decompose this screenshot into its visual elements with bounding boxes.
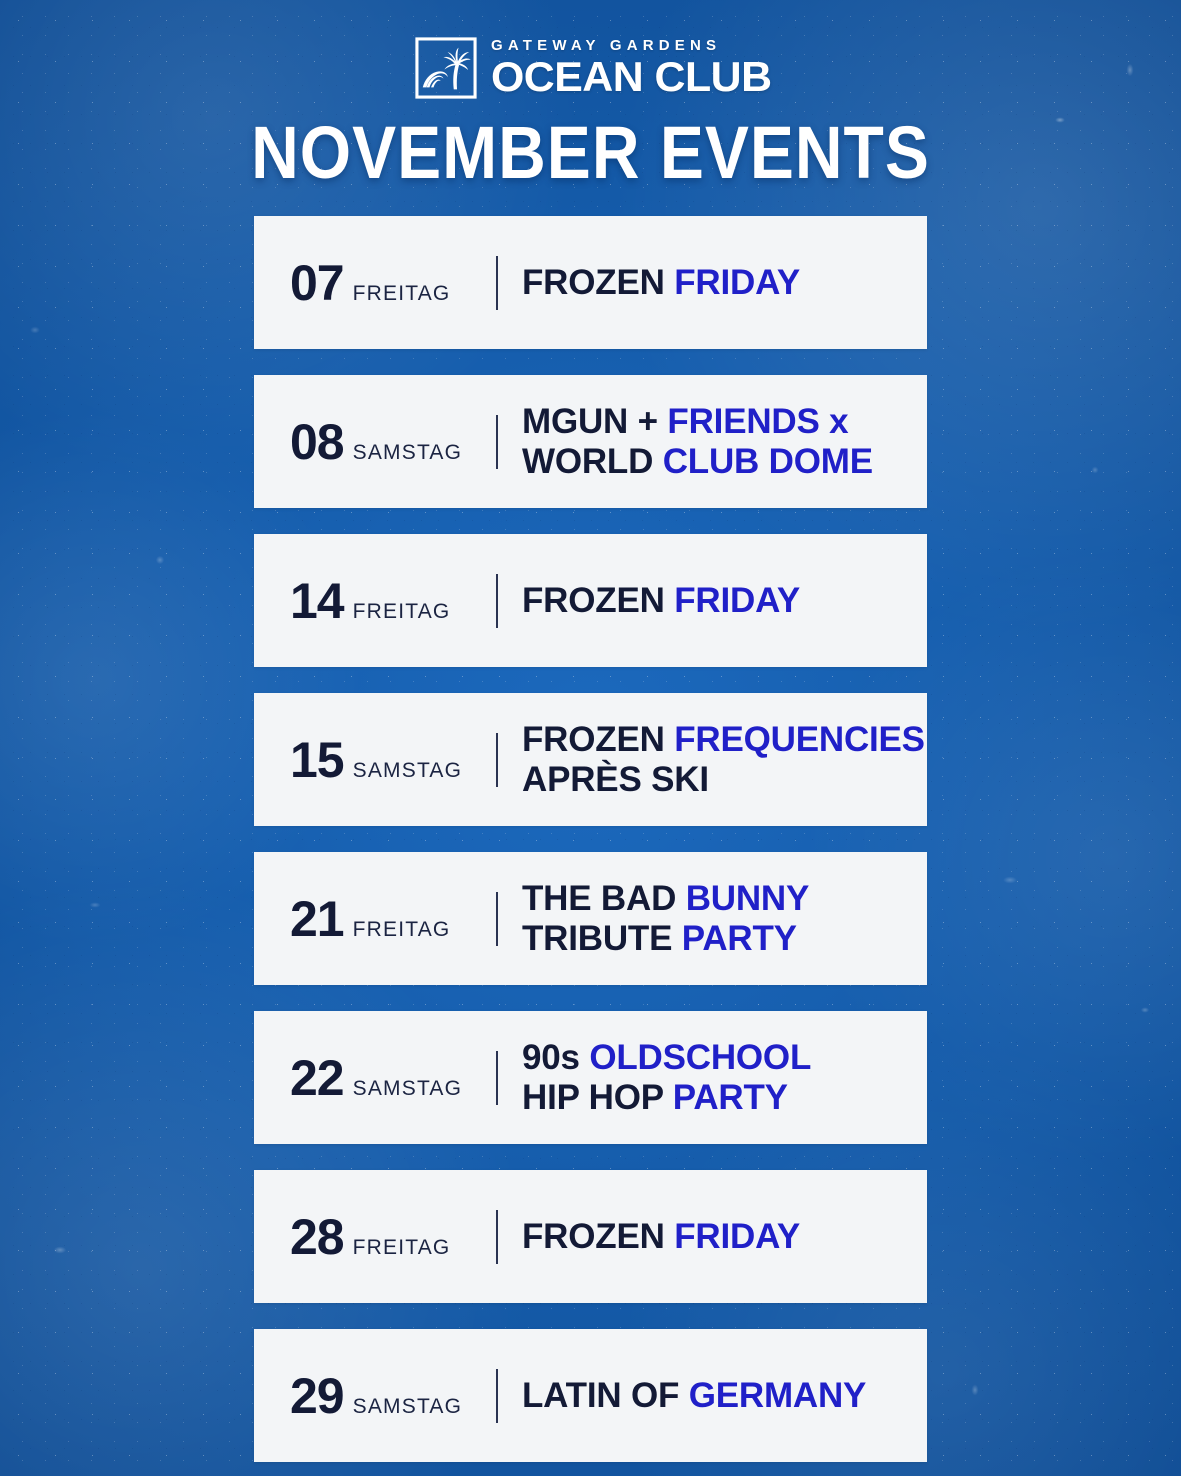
events-list: 07FREITAGFROZEN FRIDAY08SAMSTAGMGUN + FR…: [254, 190, 927, 1462]
event-card[interactable]: 21FREITAGTHE BAD BUNNYTRIBUTE PARTY: [254, 852, 927, 985]
event-title-line: WORLD CLUB DOME: [522, 442, 927, 481]
brand-logo: GATEWAY GARDENS OCEAN CLUB: [0, 36, 1181, 100]
event-card[interactable]: 22SAMSTAG90s OLDSCHOOLHIP HOP PARTY: [254, 1011, 927, 1144]
event-divider: [496, 256, 498, 310]
page-title: NOVEMBER EVENTS: [0, 109, 1181, 194]
event-title-accent-text: PARTY: [673, 1078, 788, 1117]
event-weekday: SAMSTAG: [353, 760, 463, 781]
event-divider: [496, 1369, 498, 1423]
event-title-accent-text: OLDSCHOOL: [589, 1038, 811, 1077]
event-divider: [496, 733, 498, 787]
event-date-block: 28FREITAG: [290, 1212, 496, 1262]
event-title-accent-text: PARTY: [682, 919, 797, 958]
event-day-number: 28: [290, 1212, 344, 1262]
event-title-text: FROZEN: [522, 263, 674, 302]
event-title-text: FROZEN: [522, 581, 674, 620]
event-title: FROZEN FREQUENCIESAPRÈS SKI: [522, 720, 927, 798]
event-date-block: 29SAMSTAG: [290, 1371, 496, 1421]
event-title-line: TRIBUTE PARTY: [522, 919, 927, 958]
event-title-accent-text: GERMANY: [689, 1376, 867, 1415]
event-title: THE BAD BUNNYTRIBUTE PARTY: [522, 879, 927, 957]
event-title-line: FROZEN FRIDAY: [522, 1217, 927, 1256]
brand-wordmark: GATEWAY GARDENS OCEAN CLUB: [491, 38, 766, 98]
event-divider: [496, 1210, 498, 1264]
event-title-line: 90s OLDSCHOOL: [522, 1038, 927, 1077]
event-card[interactable]: 29SAMSTAGLATIN OF GERMANY: [254, 1329, 927, 1462]
event-title-line: FROZEN FRIDAY: [522, 581, 927, 620]
event-title-line: HIP HOP PARTY: [522, 1078, 927, 1117]
event-title-text: LATIN OF: [522, 1376, 689, 1415]
event-title: 90s OLDSCHOOLHIP HOP PARTY: [522, 1038, 927, 1116]
event-day-number: 22: [290, 1053, 344, 1103]
brand-kicker: GATEWAY GARDENS: [491, 38, 721, 53]
event-title-text: WORLD: [522, 442, 663, 481]
event-title-accent-text: FRIDAY: [674, 263, 800, 302]
event-weekday: SAMSTAG: [353, 442, 463, 463]
event-divider: [496, 574, 498, 628]
palm-tree-wave-icon: [415, 37, 477, 99]
event-title: FROZEN FRIDAY: [522, 1217, 927, 1256]
poster-header: GATEWAY GARDENS OCEAN CLUB NOVEMBER EVEN…: [0, 0, 1181, 190]
event-title-line: MGUN + FRIENDS x: [522, 402, 927, 441]
event-title-text: TRIBUTE: [522, 919, 682, 958]
event-title: FROZEN FRIDAY: [522, 263, 927, 302]
event-title-text: FROZEN: [522, 1217, 674, 1256]
event-title-line: APRÈS SKI: [522, 760, 927, 799]
event-title-line: FROZEN FRIDAY: [522, 263, 927, 302]
event-poster: GATEWAY GARDENS OCEAN CLUB NOVEMBER EVEN…: [0, 0, 1181, 1476]
event-title-text: MGUN +: [522, 402, 667, 441]
event-title: MGUN + FRIENDS xWORLD CLUB DOME: [522, 402, 927, 480]
event-date-block: 22SAMSTAG: [290, 1053, 496, 1103]
event-date-block: 08SAMSTAG: [290, 417, 496, 467]
event-day-number: 08: [290, 417, 344, 467]
event-card[interactable]: 15SAMSTAGFROZEN FREQUENCIESAPRÈS SKI: [254, 693, 927, 826]
event-day-number: 15: [290, 735, 344, 785]
event-day-number: 29: [290, 1371, 344, 1421]
event-card[interactable]: 07FREITAGFROZEN FRIDAY: [254, 216, 927, 349]
brand-name: OCEAN CLUB: [491, 56, 772, 98]
event-title-accent-text: FRIDAY: [674, 1217, 800, 1256]
event-title-line: LATIN OF GERMANY: [522, 1376, 927, 1415]
event-title-accent-text: FRIENDS x: [667, 402, 848, 441]
event-day-number: 21: [290, 894, 344, 944]
event-title-text: FROZEN: [522, 720, 674, 759]
event-title-text: APRÈS SKI: [522, 760, 709, 799]
event-title: LATIN OF GERMANY: [522, 1376, 927, 1415]
event-weekday: SAMSTAG: [353, 1078, 463, 1099]
event-weekday: SAMSTAG: [353, 1396, 463, 1417]
event-title-line: THE BAD BUNNY: [522, 879, 927, 918]
event-title-text: THE BAD: [522, 879, 686, 918]
event-title-accent-text: FREQUENCIES: [674, 720, 925, 759]
event-date-block: 15SAMSTAG: [290, 735, 496, 785]
event-date-block: 07FREITAG: [290, 258, 496, 308]
event-day-number: 14: [290, 576, 344, 626]
event-divider: [496, 892, 498, 946]
event-title-accent-text: BUNNY: [686, 879, 809, 918]
event-date-block: 14FREITAG: [290, 576, 496, 626]
event-weekday: FREITAG: [353, 1237, 451, 1258]
event-title-text: HIP HOP: [522, 1078, 673, 1117]
event-divider: [496, 1051, 498, 1105]
event-weekday: FREITAG: [353, 601, 451, 622]
event-title-accent-text: FRIDAY: [674, 581, 800, 620]
event-card[interactable]: 08SAMSTAGMGUN + FRIENDS xWORLD CLUB DOME: [254, 375, 927, 508]
event-day-number: 07: [290, 258, 344, 308]
event-card[interactable]: 14FREITAGFROZEN FRIDAY: [254, 534, 927, 667]
event-card[interactable]: 28FREITAGFROZEN FRIDAY: [254, 1170, 927, 1303]
event-weekday: FREITAG: [353, 283, 451, 304]
event-title: FROZEN FRIDAY: [522, 581, 927, 620]
event-title-accent-text: CLUB DOME: [663, 442, 873, 481]
event-divider: [496, 415, 498, 469]
event-date-block: 21FREITAG: [290, 894, 496, 944]
event-title-line: FROZEN FREQUENCIES: [522, 720, 927, 759]
event-title-text: 90s: [522, 1038, 589, 1077]
event-weekday: FREITAG: [353, 919, 451, 940]
